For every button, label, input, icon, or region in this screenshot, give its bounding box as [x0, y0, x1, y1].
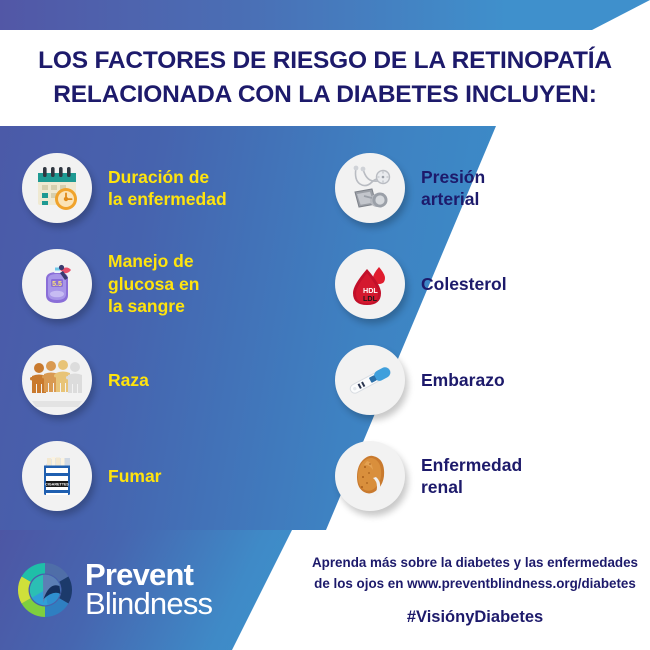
risk-factor-item: Presión arterial: [325, 140, 650, 236]
svg-text:5.5: 5.5: [52, 281, 62, 288]
risk-factor-label: Colesterol: [421, 273, 507, 295]
blood-pressure-cuff-icon: [335, 153, 405, 223]
infographic-poster: LOS FACTORES DE RIESGO DE LA RETINOPATÍA…: [0, 0, 650, 650]
blood-drop-icon: HDL LDL: [335, 249, 405, 319]
top-decor-band: [0, 0, 650, 30]
brand-logo: Prevent Blindness: [14, 559, 212, 621]
glucose-meter-icon: 5.5: [22, 249, 92, 319]
risk-factor-item: Duración de la enfermedad: [0, 140, 325, 236]
risk-factor-label: Fumar: [108, 465, 161, 487]
footer: Prevent Blindness Aprenda más sobre la d…: [0, 530, 650, 650]
risk-factor-item: HDL LDL Colesterol: [325, 236, 650, 332]
risk-factor-item: CIGARETTES Fumar: [0, 428, 325, 524]
calendar-clock-icon: [22, 153, 92, 223]
risk-factor-label: Presión arterial: [421, 166, 485, 211]
risk-factors-section: Duración de la enfermedad 5.5: [0, 126, 650, 530]
svg-text:CIGARETTES: CIGARETTES: [45, 482, 69, 486]
diverse-people-icon: [22, 345, 92, 415]
brand-name-line-2: Blindness: [85, 590, 212, 619]
risk-factors-right-column: Presión arterial HDL LDL Colesterol: [325, 126, 650, 530]
header: LOS FACTORES DE RIESGO DE LA RETINOPATÍA…: [0, 30, 650, 126]
risk-factor-item: Embarazo: [325, 332, 650, 428]
risk-factor-label: Raza: [108, 369, 149, 391]
brand-logo-text: Prevent Blindness: [85, 561, 212, 619]
prevent-blindness-ring-icon: [14, 559, 76, 621]
risk-factor-label: Duración de la enfermedad: [108, 166, 227, 211]
risk-factor-label: Manejo de glucosa en la sangre: [108, 250, 199, 317]
risk-factor-item: 5.5 Manejo de glucosa en la sangre: [0, 236, 325, 332]
footer-copy-line-2: de los ojos en www.preventblindness.org/…: [314, 574, 636, 594]
risk-factors-columns: Duración de la enfermedad 5.5: [0, 126, 650, 530]
risk-factor-label: Enfermedad renal: [421, 454, 522, 499]
footer-hashtag: #VisiónyDiabetes: [407, 608, 543, 627]
risk-factor-item: Raza: [0, 332, 325, 428]
page-title-line-1: LOS FACTORES DE RIESGO DE LA RETINOPATÍA: [38, 44, 612, 78]
svg-text:LDL: LDL: [363, 294, 378, 303]
footer-copy: Aprenda más sobre la diabetes y las enfe…: [300, 530, 650, 650]
cigarette-pack-icon: CIGARETTES: [22, 441, 92, 511]
page-title-line-2: RELACIONADA CON LA DIABETES INCLUYEN:: [53, 78, 596, 112]
kidney-icon: [335, 441, 405, 511]
risk-factor-label: Embarazo: [421, 369, 505, 391]
pregnancy-test-icon: [335, 345, 405, 415]
risk-factor-item: Enfermedad renal: [325, 428, 650, 524]
risk-factors-left-column: Duración de la enfermedad 5.5: [0, 126, 325, 530]
footer-brand-band: Prevent Blindness: [0, 530, 300, 650]
footer-copy-line-1: Aprenda más sobre la diabetes y las enfe…: [312, 553, 638, 573]
